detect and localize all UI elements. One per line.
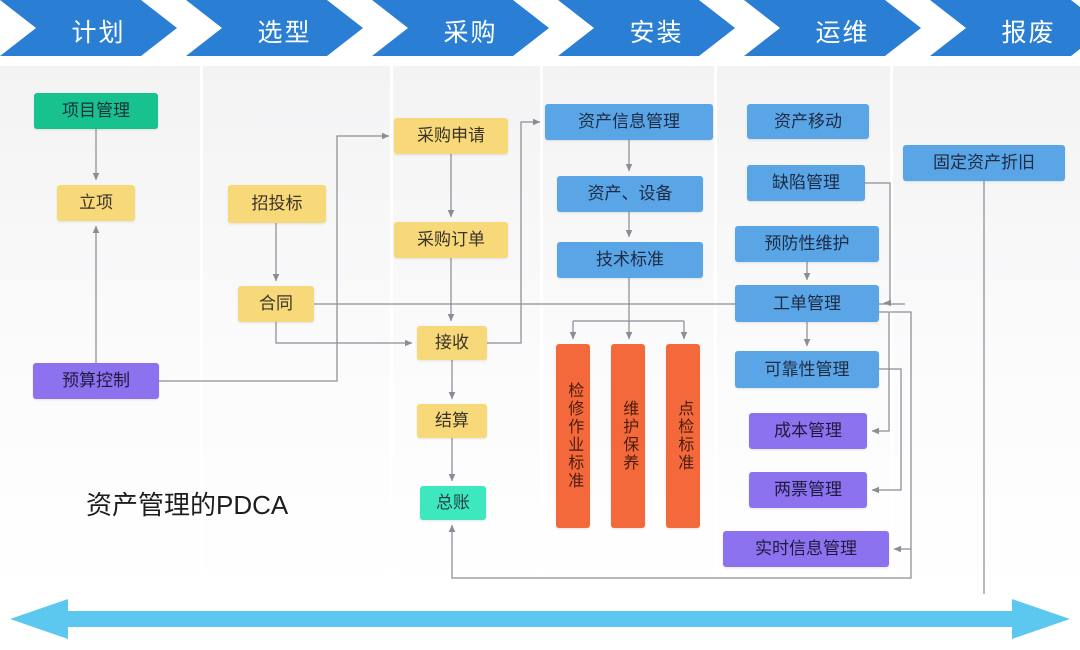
diagram-canvas: 计划选型采购安装运维报废	[0, 0, 1080, 650]
node-label: 技术标准	[596, 250, 664, 270]
node-label: 预防性维护	[765, 234, 850, 254]
node-label: 合同	[259, 294, 293, 314]
node-label: 实时信息管理	[755, 539, 857, 559]
node-label: 可靠性管理	[765, 360, 850, 380]
node-contract[interactable]: 合同	[238, 286, 314, 322]
node-realtime-info-mgmt[interactable]: 实时信息管理	[723, 531, 889, 567]
node-label: 成本管理	[774, 421, 842, 441]
node-label: 资产移动	[774, 112, 842, 132]
bidirectional-timeline-arrow	[0, 594, 1080, 650]
node-reliability-mgmt[interactable]: 可靠性管理	[735, 351, 879, 388]
node-fixed-asset-depreciation[interactable]: 固定资产折旧	[903, 145, 1065, 181]
node-asset-info-mgmt[interactable]: 资产信息管理	[545, 104, 713, 140]
node-label: 资产、设备	[588, 184, 673, 204]
node-preventive-maint[interactable]: 预防性维护	[735, 226, 879, 262]
node-cost-management[interactable]: 成本管理	[749, 413, 867, 449]
node-label: 预算控制	[62, 371, 130, 391]
node-label: 点检标准	[674, 400, 692, 472]
node-inspection-standard[interactable]: 点检标准	[666, 344, 700, 528]
node-repair-work-standard[interactable]: 检修作业标准	[556, 344, 590, 528]
node-asset-equipment[interactable]: 资产、设备	[557, 176, 703, 212]
node-label: 缺陷管理	[772, 173, 840, 193]
node-label: 立项	[79, 193, 113, 213]
node-asset-movement[interactable]: 资产移动	[747, 104, 869, 139]
node-purchase-order[interactable]: 采购订单	[394, 222, 508, 258]
node-general-ledger[interactable]: 总账	[420, 486, 486, 520]
node-maintenance-upkeep[interactable]: 维护保养	[611, 344, 645, 528]
node-label: 项目管理	[62, 101, 130, 121]
node-purchase-request[interactable]: 采购申请	[394, 118, 508, 154]
node-bidding[interactable]: 招投标	[228, 185, 326, 223]
diagram-caption: 资产管理的PDCA	[86, 485, 288, 522]
node-settlement[interactable]: 结算	[417, 404, 487, 438]
node-receiving[interactable]: 接收	[417, 326, 487, 360]
node-project-initiation[interactable]: 立项	[57, 185, 135, 221]
node-label: 检修作业标准	[564, 382, 582, 490]
node-label: 固定资产折旧	[933, 153, 1035, 173]
node-label: 采购申请	[417, 126, 485, 146]
node-label: 采购订单	[417, 230, 485, 250]
node-defect-management[interactable]: 缺陷管理	[747, 165, 865, 201]
node-label: 接收	[435, 333, 469, 353]
node-label: 两票管理	[774, 480, 842, 500]
node-label: 维护保养	[619, 400, 637, 472]
node-technical-standard[interactable]: 技术标准	[557, 242, 703, 278]
node-label: 招投标	[252, 194, 303, 214]
node-label: 资产信息管理	[578, 112, 680, 132]
node-two-ticket-mgmt[interactable]: 两票管理	[749, 472, 867, 508]
node-label: 结算	[435, 411, 469, 431]
node-label: 工单管理	[773, 294, 841, 314]
node-work-order-mgmt[interactable]: 工单管理	[735, 285, 879, 322]
node-project-management[interactable]: 项目管理	[34, 93, 158, 129]
connector-lines	[0, 0, 1080, 650]
node-label: 总账	[436, 493, 470, 513]
node-budget-control[interactable]: 预算控制	[33, 363, 159, 399]
